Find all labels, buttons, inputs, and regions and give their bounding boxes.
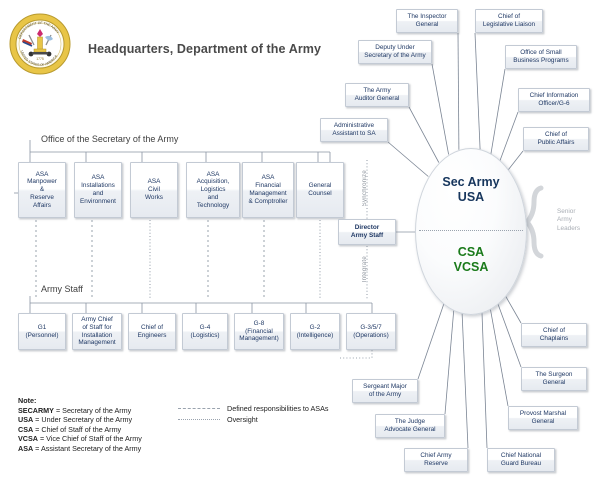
oval-bottom-text: CSA VCSA <box>416 245 526 275</box>
osa-box-0[interactable]: ASA Manpower & Reserve Affairs <box>18 162 66 218</box>
note-text-1: = Under Secretary of the Army <box>33 415 132 424</box>
radial-box-0[interactable]: The Inspector General <box>396 9 458 33</box>
note-abbr-0: SECARMY <box>18 406 54 415</box>
note-text-2: = Chief of Staff of the Army <box>33 425 121 434</box>
note-line-2: CSA = Chief of Staff of the Army <box>18 425 142 435</box>
note-abbr-1: USA <box>18 415 33 424</box>
legend-swatch-dash <box>178 408 220 409</box>
note-abbr-2: CSA <box>18 425 33 434</box>
osa-box-1[interactable]: ASA Installations and Environment <box>74 162 122 218</box>
radial-box-13[interactable]: Chief Army Reserve <box>404 448 468 472</box>
army-staff-box-3[interactable]: G-4 (Logistics) <box>182 313 228 350</box>
note-line-4: ASA = Assistant Secretary of the Army <box>18 444 142 454</box>
legend: Defined responsibilities to ASAsOversigh… <box>178 403 328 425</box>
radial-box-14[interactable]: Chief National Guard Bureau <box>487 448 555 472</box>
osa-box-3[interactable]: ASA Acquisition, Logistics and Technolog… <box>186 162 240 218</box>
senior-leaders-brace <box>527 188 541 256</box>
radial-box-12[interactable]: The Judge Advocate General <box>375 414 445 438</box>
page-title: Headquarters, Department of the Army <box>88 42 321 56</box>
radial-box-10[interactable]: Sergeant Major of the Army <box>352 379 418 403</box>
radial-box-9[interactable]: The Surgeon General <box>521 367 587 391</box>
group-label-army-staff: Army Staff <box>38 284 86 294</box>
army-staff-box-6[interactable]: G-3/5/7 (Operations) <box>346 313 396 350</box>
axis-label-synchronize: Synchronize <box>362 170 368 206</box>
axis-label-integrate: Integrate <box>362 256 368 282</box>
usa-label: USA <box>458 190 484 204</box>
legend-row-0: Defined responsibilities to ASAs <box>178 403 328 414</box>
army-seal-icon: 1775 DEPARTMENT OF THE ARMY UNITED STATE… <box>9 13 71 75</box>
note-line-3: VCSA = Vice Chief of Staff of the Army <box>18 434 142 444</box>
osa-box-5[interactable]: General Counsel <box>296 162 344 218</box>
note-text-4: = Assistant Secretary of the Army <box>33 444 141 453</box>
radial-box-4[interactable]: The Army Auditor General <box>345 83 409 107</box>
army-staff-box-0[interactable]: G1 (Personnel) <box>18 313 66 350</box>
oval-top-text: Sec Army USA <box>416 175 526 205</box>
note-text-3: = Vice Chief of Staff of the Army <box>38 434 142 443</box>
radial-box-7[interactable]: Chief of Public Affairs <box>523 127 589 151</box>
group-label-osa: Office of the Secretary of the Army <box>38 134 181 144</box>
army-staff-box-1[interactable]: Army Chief of Staff for Installation Man… <box>72 313 122 350</box>
vcsa-label: VCSA <box>454 260 489 274</box>
seal-year: 1775 <box>36 57 44 61</box>
legend-row-1: Oversight <box>178 414 328 425</box>
note-heading: Note: <box>18 396 142 406</box>
note-abbr-3: VCSA <box>18 434 38 443</box>
army-staff-box-5[interactable]: G-2 (Intelligence) <box>290 313 340 350</box>
army-staff-box-2[interactable]: Chief of Engineers <box>128 313 176 350</box>
senior-leaders-label: Senior Army Leaders <box>557 208 580 233</box>
note-lines: SECARMY = Secretary of the ArmyUSA = Und… <box>18 406 142 454</box>
note-line-1: USA = Under Secretary of the Army <box>18 415 142 425</box>
note-line-0: SECARMY = Secretary of the Army <box>18 406 142 416</box>
radial-box-6[interactable]: Administrative Assistant to SA <box>320 118 388 142</box>
army-staff-box-4[interactable]: G-8 (Financial Management) <box>234 313 284 350</box>
senior-leaders-oval[interactable]: Sec Army USA CSA VCSA <box>415 148 527 315</box>
oval-divider <box>419 230 523 231</box>
radial-box-3[interactable]: Office of Small Business Programs <box>505 45 577 69</box>
legend-label-0: Defined responsibilities to ASAs <box>227 404 328 413</box>
org-chart-canvas: 1775 DEPARTMENT OF THE ARMY UNITED STATE… <box>0 0 600 478</box>
csa-label: CSA <box>458 245 484 259</box>
note-text-0: = Secretary of the Army <box>54 406 131 415</box>
osa-box-4[interactable]: ASA Financial Management & Comptroller <box>242 162 294 218</box>
sec-army-label: Sec Army <box>442 175 499 189</box>
radial-box-2[interactable]: Deputy Under Secretary of the Army <box>358 40 432 64</box>
radial-box-11[interactable]: Provost Marshal General <box>508 406 578 430</box>
director-army-staff-box[interactable]: Director Army Staff <box>338 219 396 245</box>
note-block: Note: SECARMY = Secretary of the ArmyUSA… <box>18 396 142 454</box>
osa-box-2[interactable]: ASA Civil Works <box>130 162 178 218</box>
note-abbr-4: ASA <box>18 444 33 453</box>
radial-box-5[interactable]: Chief Information Officer/G-6 <box>518 88 590 112</box>
radial-box-1[interactable]: Chief of Legislative Liaison <box>475 9 543 33</box>
legend-swatch-dot <box>178 419 220 420</box>
radial-box-8[interactable]: Chief of Chaplains <box>521 323 587 347</box>
legend-label-1: Oversight <box>227 415 258 424</box>
